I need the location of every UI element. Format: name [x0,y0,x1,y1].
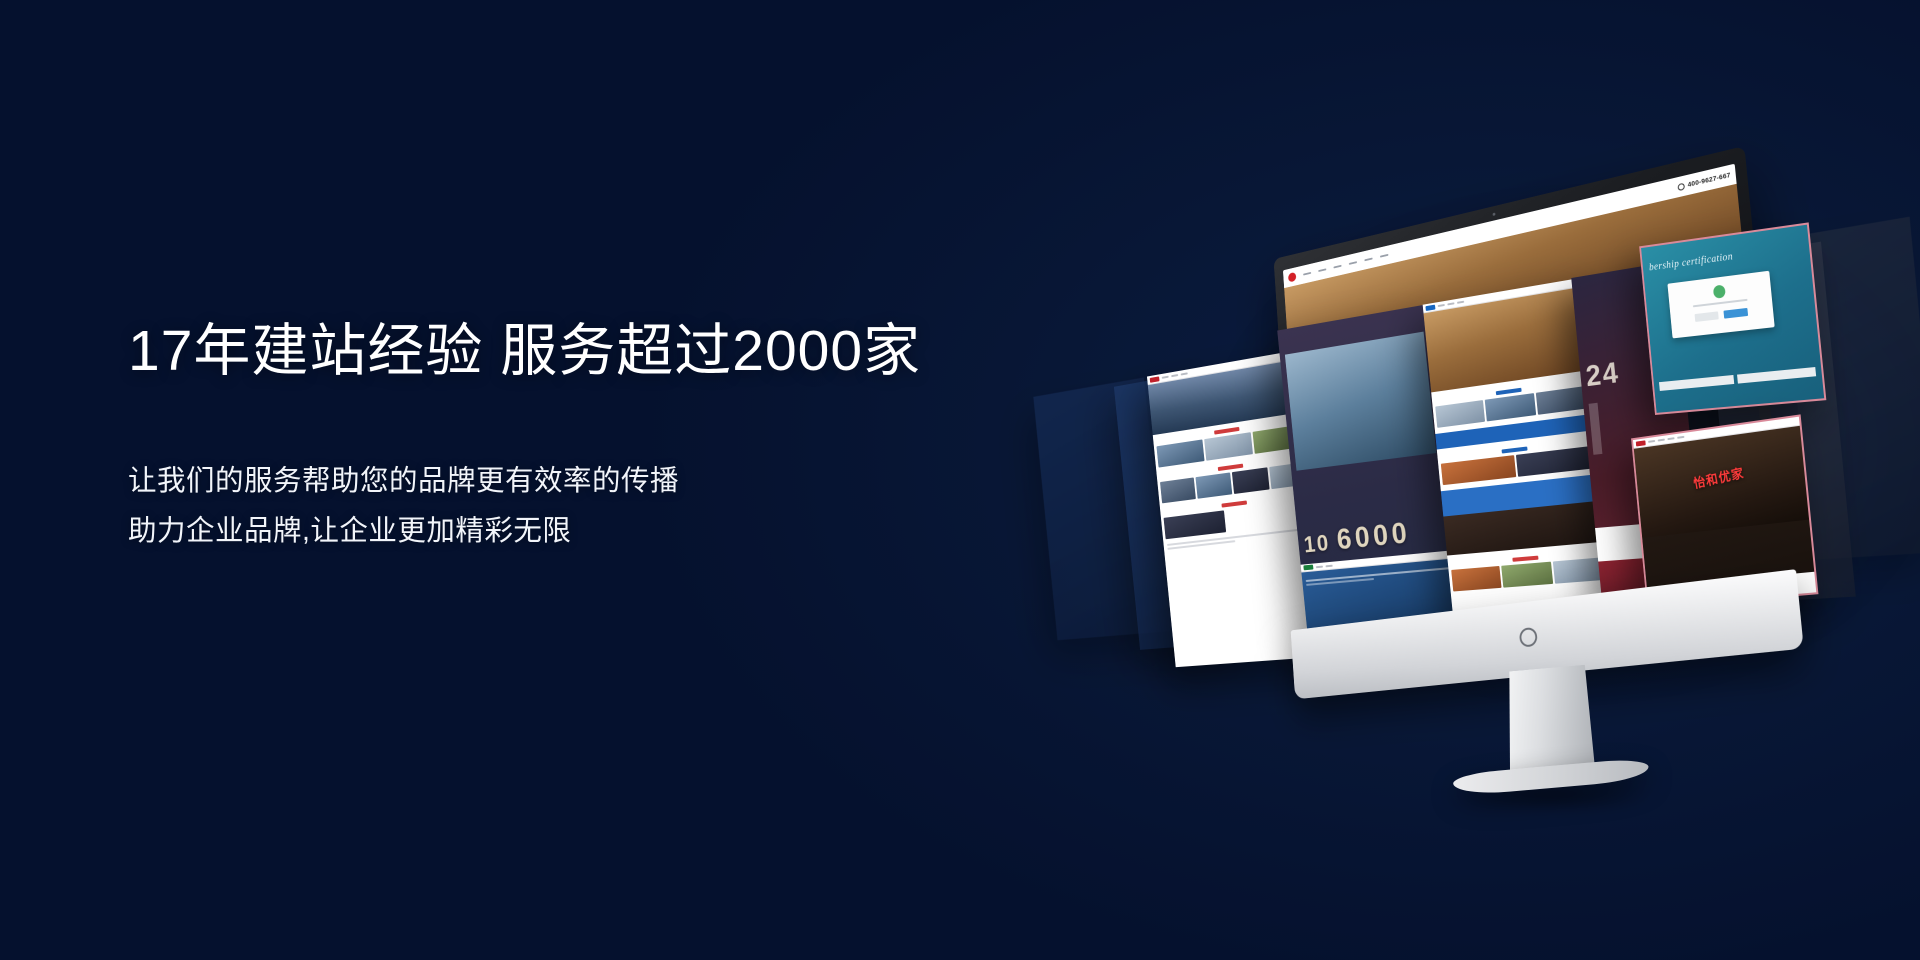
panel-logo-icon [1425,304,1435,310]
certification-title: bership certification [1649,251,1734,273]
hero-subtitle-line-1: 让我们的服务帮助您的品牌更有效率的传播 [128,457,1008,507]
thumb [1195,472,1232,498]
panel-logo-icon [1636,440,1646,446]
nav-item [1325,564,1332,567]
nav-item [1303,272,1311,276]
section-divider [1512,556,1538,562]
field[interactable] [1737,367,1816,384]
nav-item [1447,302,1454,305]
thumb [1232,467,1270,494]
brand-circle-icon [1518,626,1539,649]
cancel-button[interactable] [1695,311,1719,322]
thumb [1164,510,1226,539]
section-divider [1502,446,1528,453]
section-divider [1496,388,1522,395]
panel-stat-big: 6000 [1335,517,1412,557]
section-divider [1218,464,1244,471]
nav-item [1162,376,1169,379]
nav-item [1648,440,1655,443]
thumb [1204,432,1253,461]
thumb [1156,439,1204,467]
hero-copy: 17年建站经验 服务超过2000家 让我们的服务帮助您的品牌更有效率的传播 助力… [128,318,1008,556]
phone-icon [1678,182,1686,191]
nav-item [1171,374,1178,377]
thumb [1451,566,1501,592]
nav-item [1658,439,1665,442]
panel-stat-small: 10 [1303,529,1332,558]
brand-logo-icon [1288,272,1296,283]
nav-item [1677,436,1684,439]
certification-dialog [1667,271,1774,339]
nav-item [1316,565,1323,568]
thumb [1441,455,1516,485]
hero-banner: 17年建站经验 服务超过2000家 让我们的服务帮助您的品牌更有效率的传播 助力… [0,0,1920,960]
nav-item [1349,261,1357,265]
thumb-row [1449,557,1610,595]
hero-subtitle: 让我们的服务帮助您的品牌更有效率的传播 助力企业品牌,让企业更加精彩无限 [128,457,1008,556]
phone-number-text: 400-9627-667 [1687,171,1731,188]
nav-item [1318,268,1326,272]
nav-item [1457,301,1464,304]
thumb [1516,446,1595,477]
nav-item [1667,437,1674,440]
nav-item [1333,265,1341,269]
confirm-button[interactable] [1723,308,1748,319]
panel-hero-image [1285,332,1436,471]
success-icon [1712,285,1725,299]
thumb [1160,477,1196,503]
panel-logo-icon [1150,376,1160,382]
panel-accent-bar [1589,403,1603,455]
dialog-buttons [1671,305,1774,325]
nav-item [1181,372,1188,375]
certification-fields [1659,367,1816,391]
site-panel-certification: bership certification [1639,222,1826,415]
hero-subtitle-line-2: 助力企业品牌,让企业更加精彩无限 [128,507,1008,557]
restaurant-sign-text: 怡和优家 [1692,463,1746,493]
nav-item [1438,304,1445,307]
imac-monitor: 400-9627-667 [1185,150,1920,830]
nav-item [1364,257,1372,261]
thumb [1435,400,1485,428]
panel-stat: 24 [1585,356,1622,394]
field[interactable] [1659,375,1734,391]
section-divider [1221,500,1247,507]
panel-logo-icon [1303,565,1313,571]
hero-visual: 400-9627-667 [1185,150,1920,830]
nav-item [1380,254,1388,258]
thumb [1485,393,1536,421]
panel-hero-image [1148,359,1303,435]
page-title: 17年建站经验 服务超过2000家 [128,318,1008,385]
thumb [1501,562,1553,588]
dialog-text-line [1693,299,1748,308]
